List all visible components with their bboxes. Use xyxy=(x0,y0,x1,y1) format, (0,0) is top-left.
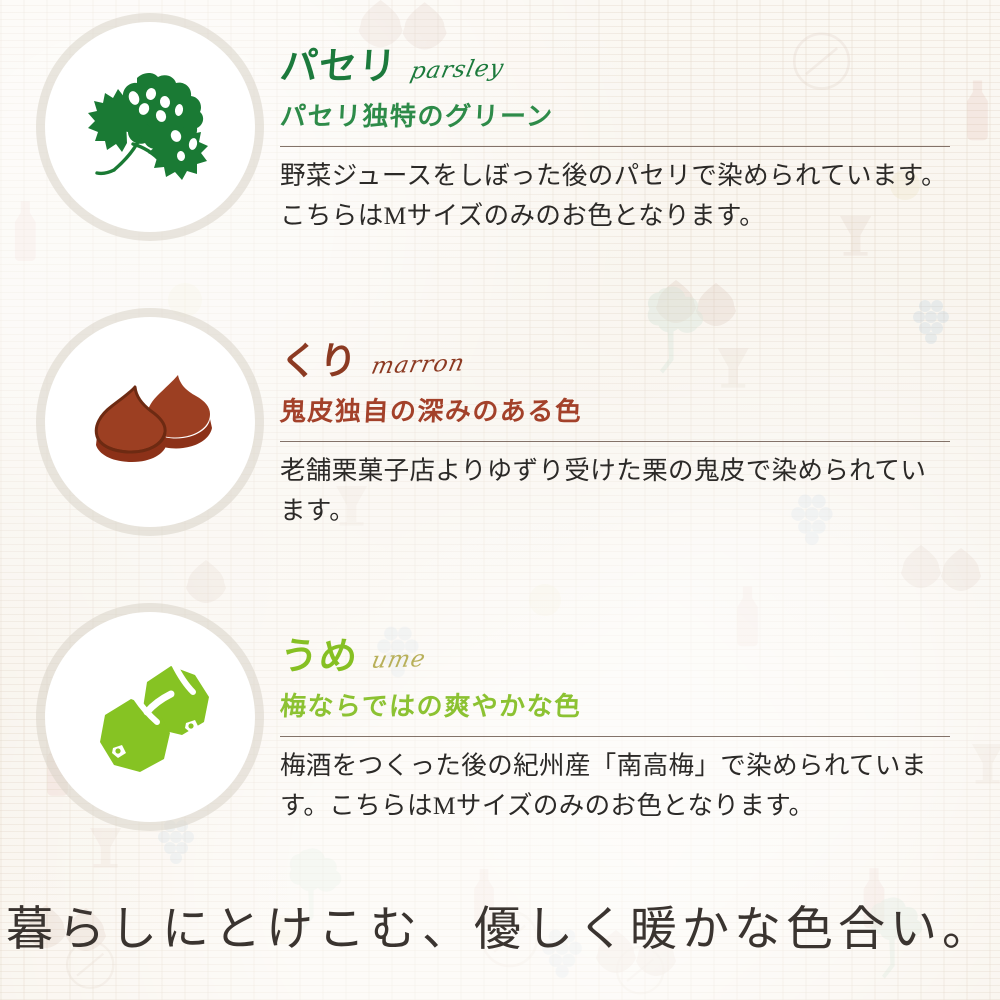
marron-divider xyxy=(280,441,950,442)
section-parsley: パセリ parsley パセリ独特のグリーン 野菜ジュースをしぼった後のパセリで… xyxy=(0,22,1000,237)
page-background: パセリ parsley パセリ独特のグリーン 野菜ジュースをしぼった後のパセリで… xyxy=(0,0,1000,1000)
ume-badge xyxy=(45,612,255,822)
parsley-badge xyxy=(45,22,255,232)
parsley-leaf-icon xyxy=(75,52,225,202)
parsley-title-line: パセリ parsley xyxy=(280,40,952,86)
parsley-text-column: パセリ parsley パセリ独特のグリーン 野菜ジュースをしぼった後のパセリで… xyxy=(280,22,952,237)
parsley-subtitle: パセリ独特のグリーン xyxy=(279,96,953,133)
marron-text-column: くり marron 鬼皮独自の深みのある色 老舗栗菓子店よりゆずり受けた栗の鬼皮… xyxy=(280,317,952,532)
ume-body-text: 梅酒をつくった後の紀州産「南高梅」で染められています。こちらはMサイズのみのお色… xyxy=(280,746,952,827)
section-marron: くり marron 鬼皮独自の深みのある色 老舗栗菓子店よりゆずり受けた栗の鬼皮… xyxy=(0,317,1000,532)
parsley-body-text: 野菜ジュースをしぼった後のパセリで染められています。こちらはMサイズのみのお色と… xyxy=(280,156,952,237)
marron-body-text: 老舗栗菓子店よりゆずり受けた栗の鬼皮で染められています。 xyxy=(280,451,952,532)
parsley-divider xyxy=(280,146,950,147)
parsley-title-en: parsley xyxy=(408,57,506,83)
ume-title-line: うめ ume xyxy=(280,630,952,676)
marron-subtitle: 鬼皮独自の深みのある色 xyxy=(279,391,953,428)
marron-title-en: marron xyxy=(369,352,467,378)
ume-subtitle: 梅ならではの爽やかな色 xyxy=(279,686,953,723)
ume-plum-icon xyxy=(75,642,225,792)
parsley-title-jp: パセリ xyxy=(279,48,399,86)
ume-title-jp: うめ xyxy=(279,638,360,676)
ume-title-en: ume xyxy=(369,648,428,673)
marron-title-line: くり marron xyxy=(280,335,952,381)
ume-divider xyxy=(280,736,950,737)
bottom-tagline: 暮らしにとけこむ、優しく暖かな色合い。 xyxy=(0,890,1000,959)
chestnut-icon xyxy=(75,347,225,497)
ume-text-column: うめ ume 梅ならではの爽やかな色 梅酒をつくった後の紀州産「南高梅」で染めら… xyxy=(280,612,952,827)
marron-badge xyxy=(45,317,255,527)
section-ume: うめ ume 梅ならではの爽やかな色 梅酒をつくった後の紀州産「南高梅」で染めら… xyxy=(0,612,1000,827)
marron-title-jp: くり xyxy=(279,343,360,381)
